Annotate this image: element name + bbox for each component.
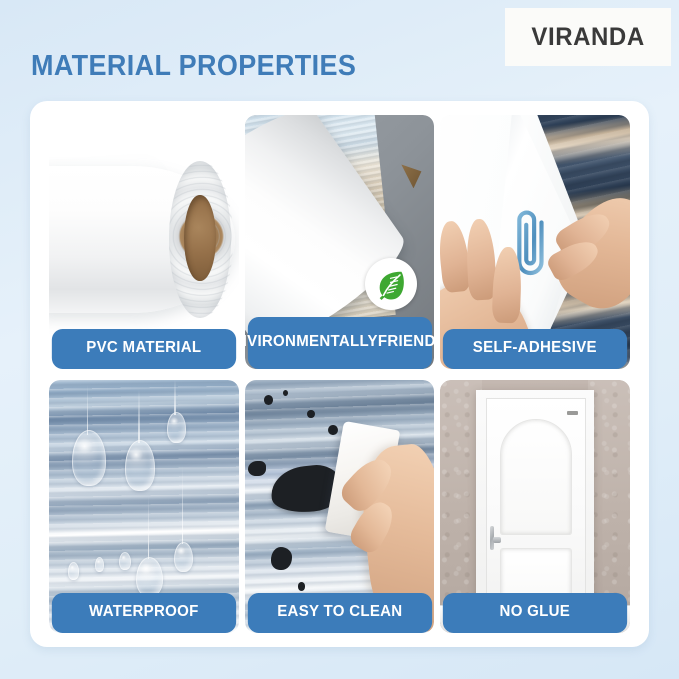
water-droplet xyxy=(72,430,106,486)
stain xyxy=(264,395,273,405)
header: MATERIAL PROPERTIES VIRANDA xyxy=(0,0,679,100)
brand-name: VIRANDA xyxy=(531,23,644,52)
water-droplet xyxy=(119,552,130,570)
water-droplet xyxy=(125,440,155,491)
feature-label-easy-to-clean: EASY TO CLEAN xyxy=(248,593,432,633)
stain xyxy=(307,410,315,418)
door-handle-bar xyxy=(493,537,502,543)
water-trail xyxy=(138,390,140,443)
features-grid: PVC MATERIAL xyxy=(49,115,630,633)
water-droplet xyxy=(167,412,186,442)
label-line-1: ENVIRONMENTALLY xyxy=(245,334,378,351)
stain xyxy=(328,425,337,435)
features-panel: PVC MATERIAL xyxy=(30,101,649,647)
feature-card-pvc-material[interactable]: PVC MATERIAL xyxy=(49,115,239,369)
page-title: MATERIAL PROPERTIES xyxy=(31,50,356,83)
stain xyxy=(248,461,265,476)
door-inset-top xyxy=(500,419,573,535)
water-droplet xyxy=(68,562,79,580)
water-trail xyxy=(148,496,150,559)
water-droplet xyxy=(136,557,163,598)
water-droplet xyxy=(95,557,104,572)
label-line-2: FRIENDLY xyxy=(378,334,435,351)
door-top-plate xyxy=(567,411,578,416)
feature-card-easy-to-clean[interactable]: EASY TO CLEAN xyxy=(245,380,435,634)
water-droplet xyxy=(174,542,193,572)
green-leaf-icon xyxy=(374,267,408,301)
door-frame xyxy=(476,390,594,623)
feature-label-pvc-material: PVC MATERIAL xyxy=(52,329,236,369)
feature-card-self-adhesive[interactable]: SELF-ADHESIVE xyxy=(440,115,630,369)
material-properties-infographic: MATERIAL PROPERTIES VIRANDA PVC MATERIAL xyxy=(0,0,679,679)
pvc-cardboard-core xyxy=(184,195,215,281)
feature-label-waterproof: WATERPROOF xyxy=(52,593,236,633)
feature-label-environmentally-friendly: ENVIRONMENTALLY FRIENDLY xyxy=(248,317,432,369)
water-trail xyxy=(87,385,89,436)
water-trail xyxy=(174,380,176,415)
film-roll-tip xyxy=(401,162,423,190)
feature-card-environmentally-friendly[interactable]: ENVIRONMENTALLY FRIENDLY xyxy=(245,115,435,369)
feature-label-no-glue: NO GLUE xyxy=(443,593,627,633)
feature-card-waterproof[interactable]: WATERPROOF xyxy=(49,380,239,634)
door-panel xyxy=(486,398,586,623)
water-trail xyxy=(182,466,184,545)
eco-badge xyxy=(365,258,417,310)
feature-label-self-adhesive: SELF-ADHESIVE xyxy=(443,329,627,369)
stain xyxy=(271,547,292,570)
feature-card-no-glue[interactable]: NO GLUE xyxy=(440,380,630,634)
brand-logo: VIRANDA xyxy=(505,8,671,66)
